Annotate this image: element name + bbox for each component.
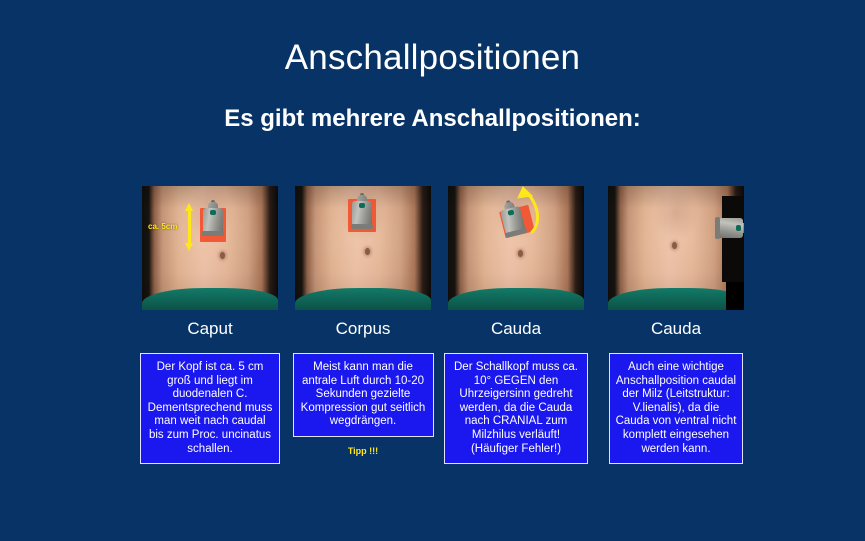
page-subtitle: Es gibt mehrere Anschallpositionen:: [0, 105, 865, 133]
ultrasound-probe-icon: [717, 216, 744, 240]
surgical-drape: [608, 288, 744, 310]
photo-cauda-ventral: [448, 186, 584, 310]
description-box-cauda-ventral: Der Schallkopf muss ca. 10° GEGEN den Uh…: [444, 353, 588, 464]
page-title: Anschallpositionen: [0, 38, 865, 78]
navel-marker: [220, 252, 225, 259]
tip-label-corpus: Tipp !!!: [287, 446, 439, 456]
caption-caput: Caput: [134, 319, 286, 339]
column-caput: ca. 5cm Caput Der Kopf ist ca. 5 cm groß…: [134, 186, 286, 464]
photo-caput: ca. 5cm: [142, 186, 278, 310]
measurement-arrow-icon: [185, 203, 194, 251]
annotation-ca-5cm: ca. 5cm: [148, 222, 177, 231]
photo-cauda-lateral: [608, 186, 744, 310]
navel-marker: [365, 248, 370, 255]
rotation-arrow-icon: [448, 186, 584, 310]
caption-corpus: Corpus: [287, 319, 439, 339]
column-cauda-lateral: Cauda Auch eine wichtige Anschallpositio…: [600, 186, 752, 464]
photo-edge-shadow: [726, 280, 744, 310]
description-box-corpus: Meist kann man die antrale Luft durch 10…: [293, 353, 434, 437]
surgical-drape: [142, 288, 278, 310]
surgical-drape: [295, 288, 431, 310]
caption-cauda-ventral: Cauda: [440, 319, 592, 339]
ultrasound-probe-icon: [201, 200, 225, 234]
ultrasound-probe-icon: [350, 193, 374, 227]
column-corpus: Corpus Meist kann man die antrale Luft d…: [287, 186, 439, 456]
photo-corpus: [295, 186, 431, 310]
navel-marker: [672, 242, 677, 249]
description-box-caput: Der Kopf ist ca. 5 cm groß und liegt im …: [140, 353, 280, 464]
caption-cauda-lateral: Cauda: [600, 319, 752, 339]
description-box-cauda-lateral: Auch eine wichtige Anschallposition caud…: [609, 353, 743, 464]
slide-root: Anschallpositionen Es gibt mehrere Ansch…: [0, 0, 865, 541]
column-cauda-ventral: Cauda Der Schallkopf muss ca. 10° GEGEN …: [440, 186, 592, 464]
